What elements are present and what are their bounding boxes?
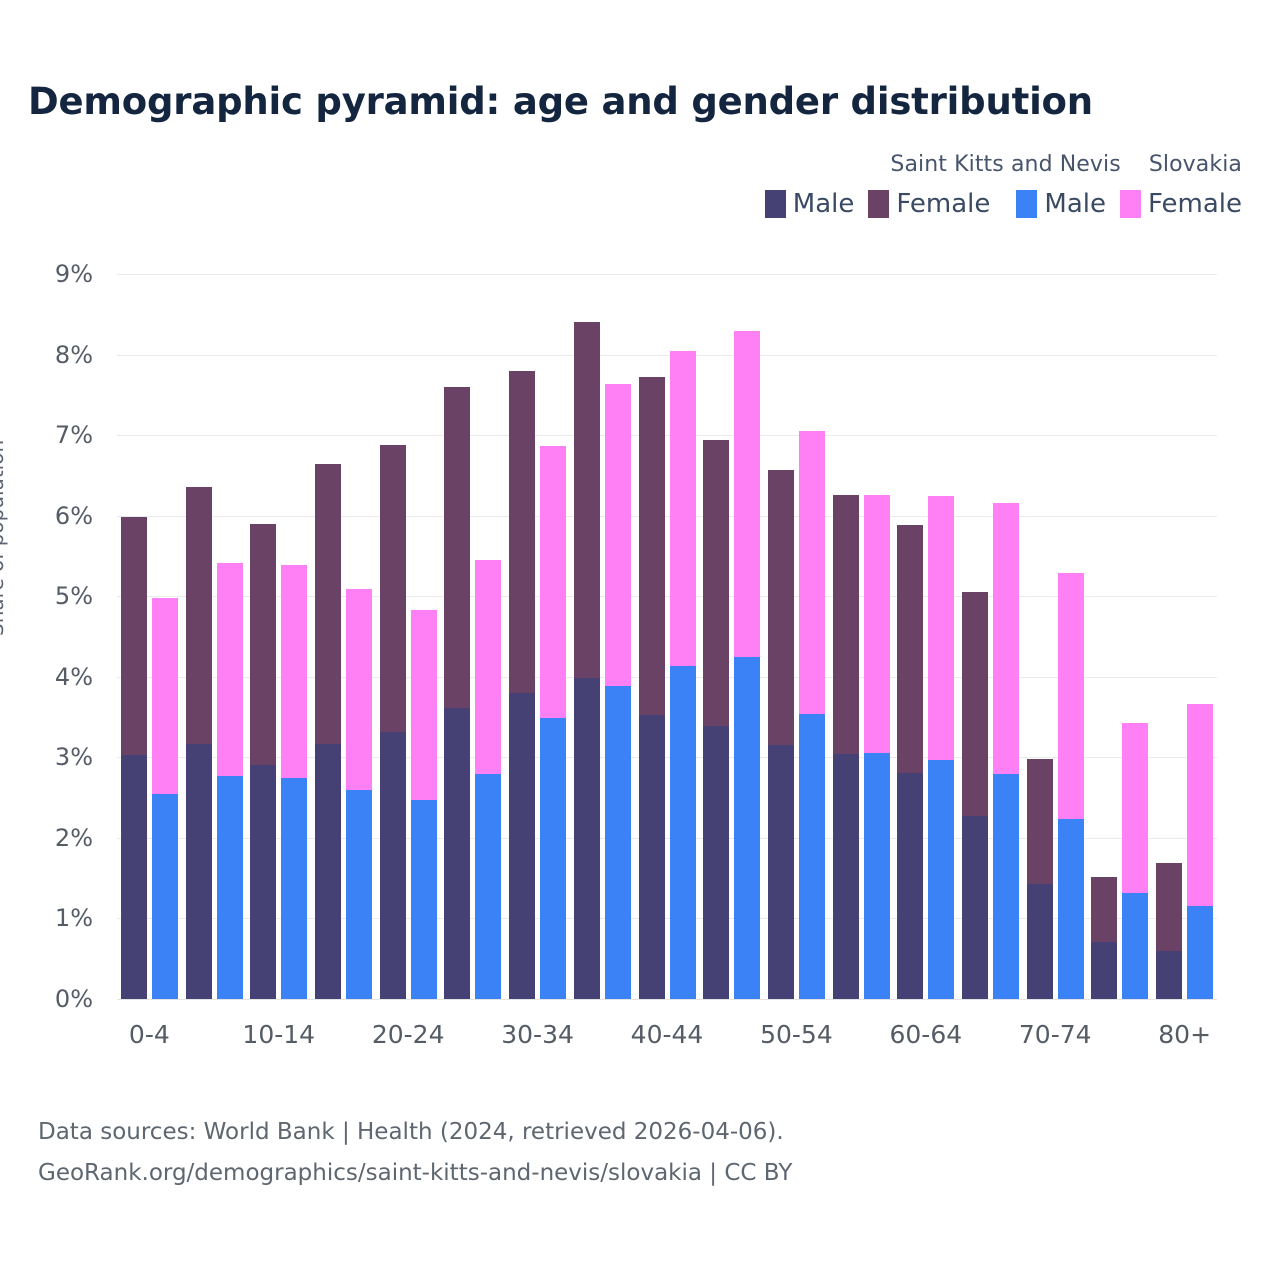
bar-stack[interactable]	[605, 384, 631, 999]
x-axis-tick-label: 70-74	[1019, 1020, 1092, 1049]
x-axis-tick-label: 80+	[1158, 1020, 1211, 1049]
bar-segment[interactable]	[217, 776, 243, 999]
bar-segment[interactable]	[897, 525, 923, 773]
bar-segment[interactable]	[121, 517, 147, 755]
bar-segment[interactable]	[605, 686, 631, 999]
bar-segment[interactable]	[574, 322, 600, 678]
bar-segment[interactable]	[928, 760, 954, 999]
bar-stack[interactable]	[799, 431, 825, 999]
bar-segment[interactable]	[444, 708, 470, 999]
bar-stack[interactable]	[152, 598, 178, 999]
bar-segment[interactable]	[605, 384, 631, 686]
bar-stack[interactable]	[993, 503, 1019, 999]
bar-segment[interactable]	[962, 816, 988, 999]
bar-segment[interactable]	[186, 744, 212, 999]
legend-swatch-icon	[765, 190, 786, 218]
bar-segment[interactable]	[993, 503, 1019, 774]
bar-segment[interactable]	[768, 745, 794, 999]
bar-segment[interactable]	[993, 774, 1019, 999]
bar-segment[interactable]	[1122, 893, 1148, 999]
legend-item[interactable]: Male	[1016, 189, 1106, 219]
bar-segment[interactable]	[799, 714, 825, 999]
legend-item[interactable]: Female	[1120, 189, 1242, 219]
bar-stack[interactable]	[121, 517, 147, 999]
bar-stack[interactable]	[574, 322, 600, 999]
legend-item-label: Female	[1148, 189, 1242, 219]
bar-stack[interactable]	[540, 446, 566, 999]
bar-segment[interactable]	[346, 589, 372, 790]
bar-segment[interactable]	[703, 440, 729, 726]
x-axis-tick-label: 60-64	[889, 1020, 962, 1049]
bar-segment[interactable]	[315, 744, 341, 999]
footer-line-2: GeoRank.org/demographics/saint-kitts-and…	[38, 1153, 792, 1194]
x-axis-tick-label: 40-44	[631, 1020, 704, 1049]
bar-segment[interactable]	[897, 773, 923, 999]
bar-stack[interactable]	[734, 331, 760, 999]
x-axis-tick-label: 0-4	[129, 1020, 170, 1049]
y-axis-tick-label: 7%	[55, 421, 93, 449]
bar-stack[interactable]	[1058, 573, 1084, 999]
bar-segment[interactable]	[444, 387, 470, 708]
bar-segment[interactable]	[703, 726, 729, 999]
bar-stack[interactable]	[928, 496, 954, 999]
bar-segment[interactable]	[1122, 723, 1148, 894]
bar-segment[interactable]	[734, 331, 760, 657]
y-axis-tick-label: 3%	[55, 743, 93, 771]
bar-stack[interactable]	[897, 525, 923, 999]
bars-layer	[117, 274, 1217, 999]
legend-group-titles: Saint Kitts and Nevis Slovakia	[722, 152, 1242, 177]
bar-segment[interactable]	[1091, 877, 1117, 942]
y-axis-tick-label: 4%	[55, 663, 93, 691]
legend-swatch-icon	[1016, 190, 1037, 218]
footer-line-1: Data sources: World Bank | Health (2024,…	[38, 1112, 792, 1153]
bar-segment[interactable]	[639, 715, 665, 999]
y-axis-tick-label: 6%	[55, 502, 93, 530]
bar-stack[interactable]	[864, 495, 890, 999]
bar-segment[interactable]	[509, 693, 535, 999]
bar-segment[interactable]	[281, 565, 307, 778]
bar-segment[interactable]	[864, 753, 890, 999]
bar-stack[interactable]	[1091, 877, 1117, 999]
bar-stack[interactable]	[1187, 704, 1213, 999]
bar-segment[interactable]	[1058, 819, 1084, 999]
bar-segment[interactable]	[1027, 759, 1053, 884]
bar-stack[interactable]	[380, 445, 406, 999]
bar-segment[interactable]	[315, 464, 341, 744]
bar-segment[interactable]	[670, 666, 696, 999]
bar-segment[interactable]	[1187, 704, 1213, 906]
bar-stack[interactable]	[346, 589, 372, 999]
legend-item[interactable]: Male	[765, 189, 855, 219]
bar-stack[interactable]	[186, 487, 212, 999]
plot-area	[117, 274, 1217, 999]
bar-stack[interactable]	[509, 371, 535, 999]
bar-segment[interactable]	[962, 592, 988, 816]
y-axis-tick-labels: 0%1%2%3%4%5%6%7%8%9%	[0, 274, 105, 999]
bar-segment[interactable]	[864, 495, 890, 754]
bar-segment[interactable]	[670, 351, 696, 667]
bar-segment[interactable]	[186, 487, 212, 743]
bar-stack[interactable]	[411, 610, 437, 999]
y-axis-tick-label: 5%	[55, 582, 93, 610]
bar-stack[interactable]	[217, 563, 243, 999]
bar-segment[interactable]	[380, 445, 406, 733]
legend-group-title-1: Saint Kitts and Nevis	[890, 152, 1120, 177]
bar-segment[interactable]	[250, 524, 276, 766]
bar-segment[interactable]	[540, 446, 566, 717]
bar-stack[interactable]	[768, 470, 794, 999]
y-axis-tick-label: 2%	[55, 824, 93, 852]
legend-item-label: Female	[896, 189, 990, 219]
bar-segment[interactable]	[639, 377, 665, 715]
bar-stack[interactable]	[639, 377, 665, 999]
bar-segment[interactable]	[250, 765, 276, 999]
bar-segment[interactable]	[1187, 906, 1213, 999]
bar-segment[interactable]	[1156, 863, 1182, 951]
legend-item-label: Male	[793, 189, 855, 219]
legend-item[interactable]: Female	[868, 189, 990, 219]
chart-legend: Saint Kitts and Nevis Slovakia MaleFemal…	[722, 152, 1242, 219]
bar-segment[interactable]	[833, 754, 859, 999]
bar-stack[interactable]	[1122, 723, 1148, 999]
y-axis-tick-label: 8%	[55, 341, 93, 369]
y-axis-tick-label: 9%	[55, 260, 93, 288]
bar-segment[interactable]	[509, 371, 535, 693]
page-title: Demographic pyramid: age and gender dist…	[28, 80, 1093, 123]
x-axis-tick-label: 30-34	[501, 1020, 574, 1049]
footer: Data sources: World Bank | Health (2024,…	[38, 1112, 792, 1194]
bar-segment[interactable]	[152, 794, 178, 999]
x-axis-tick-labels: 0-410-1420-2430-3440-4450-5460-6470-7480…	[117, 1020, 1217, 1060]
bar-segment[interactable]	[928, 496, 954, 760]
bar-segment[interactable]	[1156, 951, 1182, 999]
chart-container: Demographic pyramid: age and gender dist…	[0, 0, 1280, 1280]
bar-segment[interactable]	[768, 470, 794, 746]
bar-stack[interactable]	[962, 592, 988, 999]
bar-segment[interactable]	[475, 774, 501, 999]
bar-stack[interactable]	[833, 495, 859, 999]
bar-segment[interactable]	[346, 790, 372, 999]
bar-segment[interactable]	[411, 800, 437, 999]
bar-segment[interactable]	[380, 732, 406, 999]
x-axis-tick-label: 20-24	[372, 1020, 445, 1049]
bar-segment[interactable]	[833, 495, 859, 754]
legend-items: MaleFemaleMaleFemale	[722, 189, 1242, 219]
bar-segment[interactable]	[574, 678, 600, 999]
bar-stack[interactable]	[281, 565, 307, 999]
bar-segment[interactable]	[1058, 573, 1084, 819]
bar-stack[interactable]	[444, 387, 470, 999]
legend-group-title-2: Slovakia	[1149, 152, 1242, 177]
x-axis-tick-label: 50-54	[760, 1020, 833, 1049]
bar-segment[interactable]	[411, 610, 437, 800]
bar-stack[interactable]	[315, 464, 341, 999]
bar-segment[interactable]	[152, 598, 178, 795]
legend-swatch-icon	[1120, 190, 1141, 218]
x-axis-tick-label: 10-14	[242, 1020, 315, 1049]
bar-segment[interactable]	[799, 431, 825, 714]
bar-segment[interactable]	[281, 778, 307, 999]
gridline	[117, 999, 1217, 1000]
bar-segment[interactable]	[540, 718, 566, 999]
y-axis-tick-label: 0%	[55, 985, 93, 1013]
bar-segment[interactable]	[121, 755, 147, 999]
bar-segment[interactable]	[734, 657, 760, 999]
bar-stack[interactable]	[670, 351, 696, 999]
bar-stack[interactable]	[703, 440, 729, 999]
bar-stack[interactable]	[1156, 863, 1182, 999]
bar-stack[interactable]	[250, 524, 276, 999]
legend-item-label: Male	[1044, 189, 1106, 219]
bar-segment[interactable]	[1027, 884, 1053, 999]
bar-segment[interactable]	[217, 563, 243, 776]
y-axis-title: Share of population	[0, 440, 8, 636]
bar-stack[interactable]	[1027, 759, 1053, 999]
legend-swatch-icon	[868, 190, 889, 218]
bar-stack[interactable]	[475, 560, 501, 999]
bar-segment[interactable]	[475, 560, 501, 774]
y-axis-tick-label: 1%	[55, 904, 93, 932]
bar-segment[interactable]	[1091, 942, 1117, 999]
